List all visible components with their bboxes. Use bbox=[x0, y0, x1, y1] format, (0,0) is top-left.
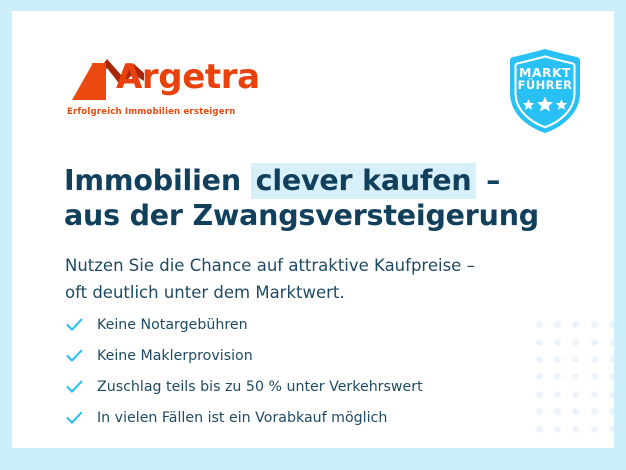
dot-decoration bbox=[585, 386, 603, 403]
dot-decoration bbox=[567, 368, 585, 385]
dot-decoration bbox=[548, 351, 566, 368]
dot-decoration bbox=[585, 316, 603, 333]
check-icon bbox=[66, 380, 90, 394]
headline-line-2: aus der Zwangsversteigerung bbox=[64, 198, 534, 233]
dot-decoration bbox=[530, 368, 548, 385]
dot-decoration bbox=[604, 368, 614, 385]
dot-decoration bbox=[567, 333, 585, 350]
market-leader-badge: MARKT FÜHRER bbox=[501, 47, 589, 135]
dot-decoration bbox=[567, 403, 585, 420]
dot-decoration bbox=[585, 351, 603, 368]
list-item: Keine Notargebühren bbox=[66, 309, 506, 340]
page-title: Immobilien clever kaufen – aus der Zwang… bbox=[64, 163, 534, 233]
dot-decoration bbox=[548, 368, 566, 385]
dot-decoration bbox=[530, 351, 548, 368]
list-item: Zuschlag teils bis zu 50 % unter Verkehr… bbox=[66, 371, 506, 402]
dot-decoration bbox=[585, 421, 603, 438]
dot-decoration bbox=[604, 386, 614, 403]
check-icon bbox=[66, 411, 90, 425]
logo-tagline: Erfolgreich Immobilien ersteigern bbox=[67, 107, 235, 117]
headline-highlight: clever kaufen bbox=[251, 163, 477, 199]
dot-decoration bbox=[548, 421, 566, 438]
dot-decoration bbox=[604, 403, 614, 420]
promo-banner: Argetra Erfolgreich Immobilien ersteiger… bbox=[0, 0, 626, 470]
check-icon bbox=[66, 318, 90, 332]
list-item: Keine Maklerprovision bbox=[66, 340, 506, 371]
dot-decoration bbox=[548, 316, 566, 333]
dot-decoration bbox=[585, 403, 603, 420]
headline-text-post: – bbox=[476, 164, 500, 197]
subheadline-line-1: Nutzen Sie die Chance auf attraktive Kau… bbox=[65, 252, 545, 279]
dot-decoration bbox=[530, 333, 548, 350]
dot-decoration bbox=[604, 421, 614, 438]
list-item-label: Keine Maklerprovision bbox=[90, 347, 253, 365]
dot-decoration bbox=[530, 421, 548, 438]
argetra-logo[interactable]: Argetra Erfolgreich Immobilien ersteiger… bbox=[66, 54, 266, 124]
dot-decoration bbox=[585, 368, 603, 385]
dot-decoration bbox=[604, 316, 614, 333]
dot-decoration bbox=[530, 386, 548, 403]
banner-card: Argetra Erfolgreich Immobilien ersteiger… bbox=[12, 11, 614, 448]
dot-decoration bbox=[604, 351, 614, 368]
list-item-label: In vielen Fällen ist ein Vorabkauf mögli… bbox=[90, 409, 387, 427]
logo-wordmark: Argetra bbox=[116, 55, 260, 99]
dot-decoration bbox=[548, 386, 566, 403]
dot-decoration bbox=[530, 403, 548, 420]
subheadline: Nutzen Sie die Chance auf attraktive Kau… bbox=[65, 252, 545, 306]
dot-decoration bbox=[567, 316, 585, 333]
dot-decoration bbox=[530, 316, 548, 333]
list-item-label: Zuschlag teils bis zu 50 % unter Verkehr… bbox=[90, 378, 423, 396]
dot-decoration bbox=[548, 403, 566, 420]
dot-decoration bbox=[567, 351, 585, 368]
subheadline-line-2: oft deutlich unter dem Marktwert. bbox=[65, 279, 545, 306]
dot-decoration bbox=[585, 333, 603, 350]
dot-decoration bbox=[604, 333, 614, 350]
check-icon bbox=[66, 349, 90, 363]
dot-decoration bbox=[548, 333, 566, 350]
headline-line-1: Immobilien clever kaufen – bbox=[64, 163, 534, 198]
headline-text-pre: Immobilien bbox=[64, 164, 251, 197]
dot-grid-decoration bbox=[530, 316, 614, 438]
list-item-label: Keine Notargebühren bbox=[90, 316, 248, 334]
dot-decoration bbox=[567, 421, 585, 438]
benefits-checklist: Keine Notargebühren Keine Maklerprovisio… bbox=[66, 309, 506, 433]
dot-decoration bbox=[567, 386, 585, 403]
shield-icon bbox=[501, 47, 589, 135]
list-item: In vielen Fällen ist ein Vorabkauf mögli… bbox=[66, 402, 506, 433]
